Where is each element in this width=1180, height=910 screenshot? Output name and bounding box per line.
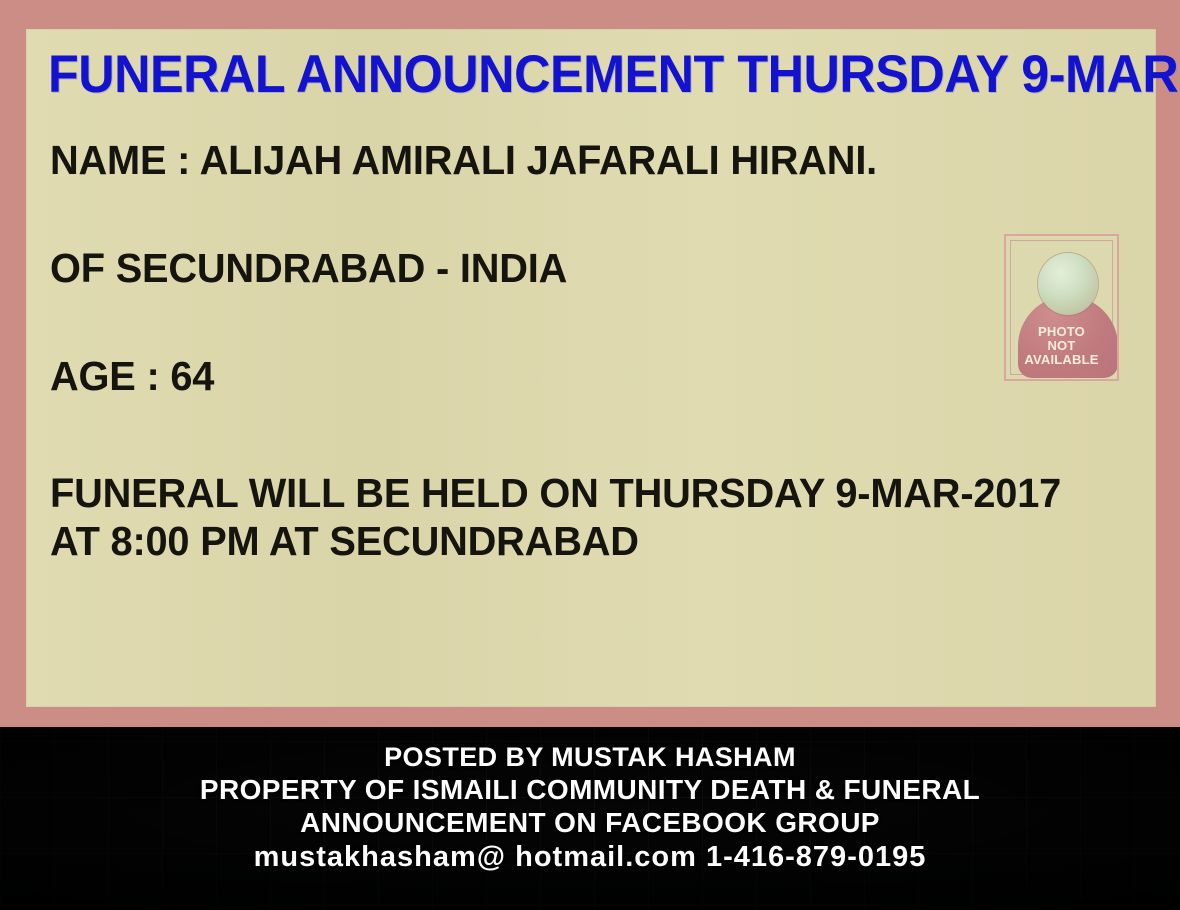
age-line: AGE : 64 bbox=[50, 353, 1039, 399]
photo-placeholder-text: PHOTO NOT AVAILABLE bbox=[1011, 325, 1112, 367]
photo-inner-frame: PHOTO NOT AVAILABLE bbox=[1010, 240, 1113, 375]
footer-posted-by: POSTED BY MUSTAK HASHAM bbox=[0, 741, 1180, 773]
person-head-icon bbox=[1038, 253, 1098, 315]
photo-text-line-2: NOT bbox=[1011, 339, 1112, 353]
spacer bbox=[50, 291, 1070, 353]
funeral-details-line-2: AT 8:00 PM AT SECUNDRABAD bbox=[50, 517, 1039, 565]
footer-credits: POSTED BY MUSTAK HASHAM PROPERTY OF ISMA… bbox=[0, 727, 1180, 875]
announcement-title: FUNERAL ANNOUNCEMENT THURSDAY 9-MAR-2017 bbox=[48, 45, 1084, 107]
deceased-name-line: NAME : ALIJAH AMIRALI JAFARALI HIRANI. bbox=[50, 137, 1039, 183]
photo-text-line-1: PHOTO bbox=[1011, 325, 1112, 339]
announcement-card: FUNERAL ANNOUNCEMENT THURSDAY 9-MAR-2017… bbox=[26, 29, 1156, 707]
footer-property-line: PROPERTY OF ISMAILI COMMUNITY DEATH & FU… bbox=[0, 773, 1180, 806]
photo-text-line-3: AVAILABLE bbox=[1011, 353, 1112, 367]
poster-footer: POSTED BY MUSTAK HASHAM PROPERTY OF ISMA… bbox=[0, 727, 1180, 910]
photo-not-available-box: PHOTO NOT AVAILABLE bbox=[1004, 234, 1119, 381]
spacer bbox=[50, 399, 1070, 469]
funeral-announcement-poster: FUNERAL ANNOUNCEMENT THURSDAY 9-MAR-2017… bbox=[0, 0, 1180, 910]
announcement-body: NAME : ALIJAH AMIRALI JAFARALI HIRANI. O… bbox=[50, 137, 1070, 565]
spacer bbox=[50, 183, 1070, 245]
footer-group-line: ANNOUNCEMENT ON FACEBOOK GROUP bbox=[0, 806, 1180, 839]
funeral-details-line-1: FUNERAL WILL BE HELD ON THURSDAY 9-MAR-2… bbox=[50, 469, 1039, 517]
footer-contact-line: mustakhasham@ hotmail.com 1-416-879-0195 bbox=[0, 839, 1180, 875]
origin-line: OF SECUNDRABAD - INDIA bbox=[50, 245, 1039, 291]
